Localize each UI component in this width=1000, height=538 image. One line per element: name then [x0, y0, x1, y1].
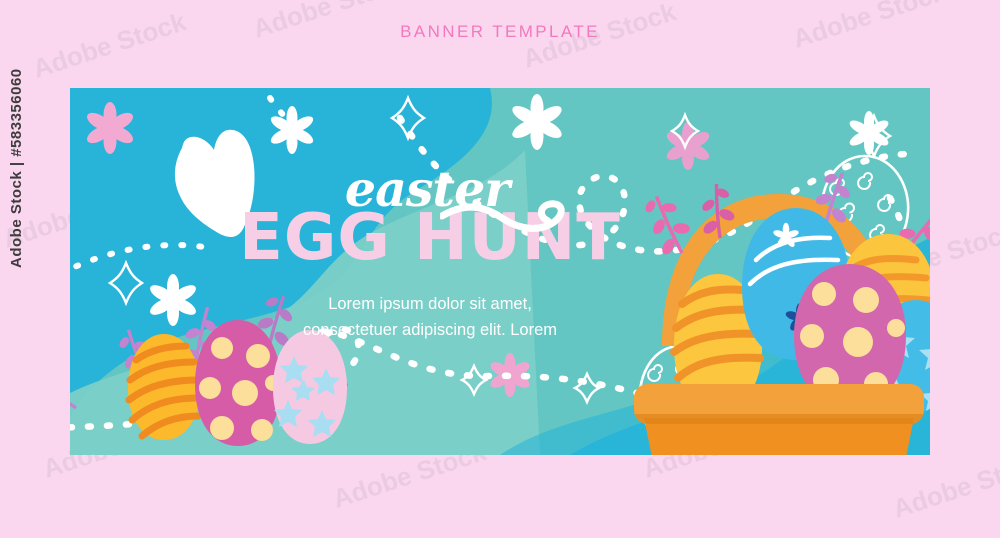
script-swoosh	[440, 196, 580, 238]
egg-pink-stars	[273, 330, 347, 444]
banner-artwork: easter EGG HUNT Lorem ipsum dolor sit am…	[70, 88, 930, 455]
banner-illustration	[70, 88, 930, 455]
page-root: Adobe Stock Adobe Stock Adobe Stock Adob…	[0, 0, 1000, 538]
page-title: BANNER TEMPLATE	[0, 22, 1000, 42]
watermark-text: Adobe Stock	[889, 446, 1000, 525]
stock-id-watermark: Adobe Stock | #583356060	[8, 68, 25, 268]
body-line-1: Lorem ipsum dolor sit amet,	[220, 292, 640, 318]
body-line-2: consectetuer adipiscing elit. Lorem	[220, 318, 640, 344]
body-copy: Lorem ipsum dolor sit amet, consectetuer…	[220, 292, 640, 343]
watermark-text: Adobe Stock	[29, 6, 190, 85]
egg-orange-striped	[128, 334, 200, 440]
